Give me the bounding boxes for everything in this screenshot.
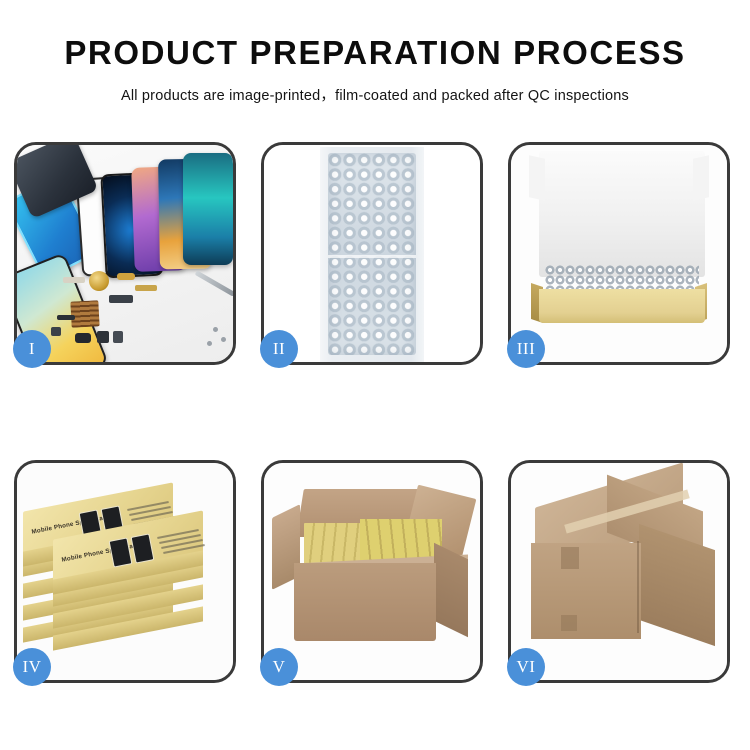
step-panel-5: V [261, 460, 483, 683]
step-1-image [17, 145, 233, 362]
bubble-wrap-pouch [320, 147, 424, 362]
step-2-image [264, 145, 480, 362]
spare-part [109, 295, 133, 303]
spare-part [75, 333, 91, 343]
step-5-image [264, 463, 480, 680]
step-panel-3: III [508, 142, 730, 365]
mailer-front-panel [539, 289, 705, 323]
step-4-image: Mobile Phone Spare Parts Mobile Phon [17, 463, 233, 680]
phone-screen-teal [183, 153, 233, 265]
bubble-texture [328, 153, 416, 355]
screw-part [221, 337, 226, 342]
chip-array-part [70, 300, 99, 327]
page-title: PRODUCT PREPARATION PROCESS [0, 36, 750, 71]
spare-part [51, 327, 61, 336]
step-6-image [511, 463, 727, 680]
step-badge-3: III [507, 330, 545, 368]
step-3-image [511, 145, 727, 362]
screw-part [207, 341, 212, 346]
spare-part [117, 273, 135, 280]
mailer-lid-tab-right [693, 155, 709, 200]
step-badge-4: IV [13, 648, 51, 686]
step-badge-5: V [260, 648, 298, 686]
spare-part [97, 331, 109, 343]
bubble-wrapped-contents [545, 265, 699, 291]
carton-flap-mark [561, 547, 579, 569]
process-steps-grid: I II III [14, 142, 736, 683]
step-panel-4: Mobile Phone Spare Parts Mobile Phon [14, 460, 236, 683]
page-subtitle: All products are image-printed，film-coat… [0, 84, 750, 105]
step-panel-1: I [14, 142, 236, 365]
step-panel-2: II [261, 142, 483, 365]
spare-part [63, 277, 85, 283]
page-header: PRODUCT PREPARATION PROCESS All products… [0, 0, 750, 105]
carton-edge-seam [637, 541, 639, 633]
speaker-part-icon [89, 271, 109, 291]
carton-front [294, 563, 436, 641]
step-badge-2: II [260, 330, 298, 368]
pouch-seam [328, 255, 416, 258]
spare-part [135, 285, 157, 291]
carton-front [531, 543, 641, 639]
carton-side-right [434, 543, 468, 638]
screw-part [213, 327, 218, 332]
step-badge-6: VI [507, 648, 545, 686]
spare-part [57, 315, 75, 320]
carton-flap-mark [561, 615, 577, 631]
spare-part [113, 331, 123, 343]
mailer-lid [539, 151, 705, 277]
step-badge-1: I [13, 330, 51, 368]
mailer-lid-tab-left [529, 155, 545, 200]
step-panel-6: VI [508, 460, 730, 683]
